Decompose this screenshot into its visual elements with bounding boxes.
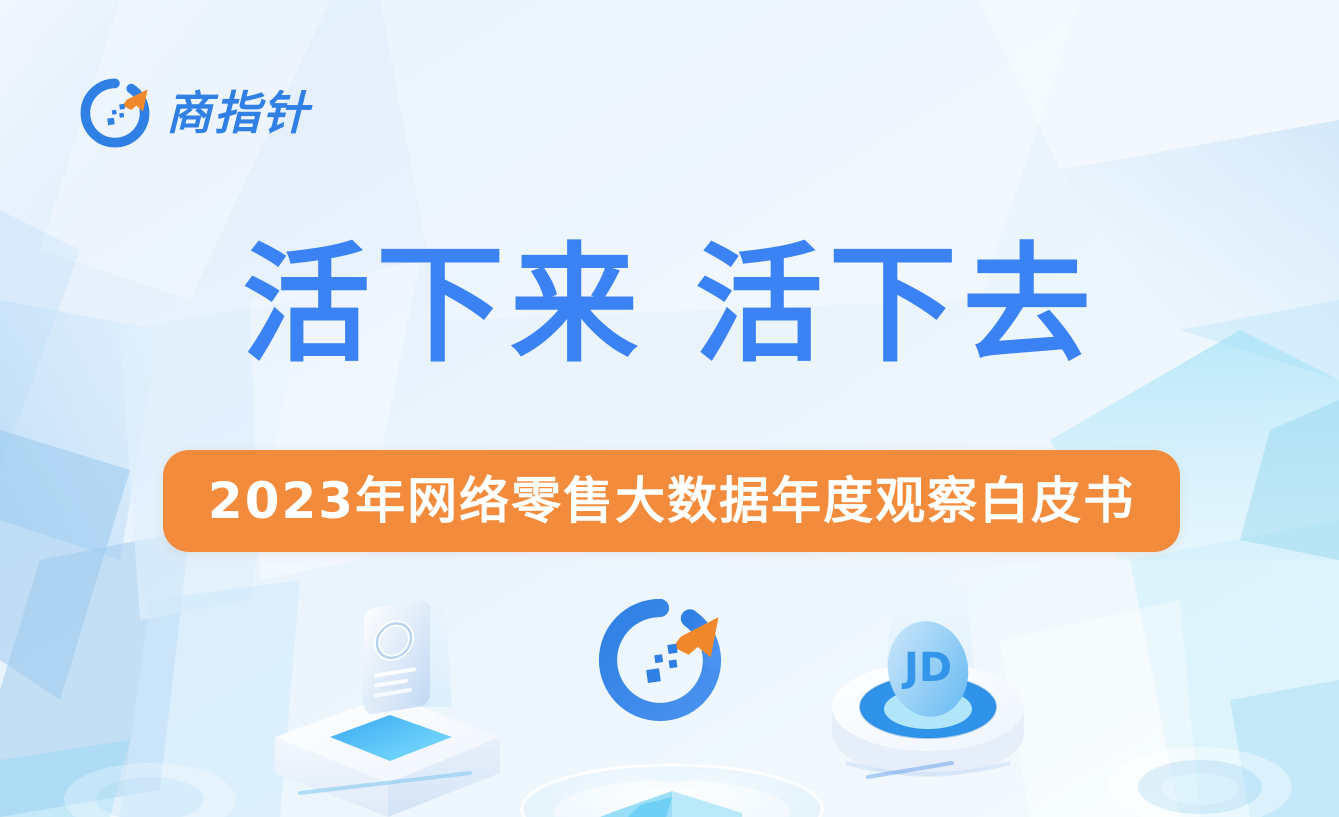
page-title-text: 活下来 活下去 [242,236,1097,374]
subtitle-text: 2023年网络零售大数据年度观察白皮书 [208,476,1135,526]
secondary-platform-icon [1108,747,1292,817]
svg-text:JD: JD [901,645,952,691]
shangzhizhen-ring-arrow-logo-icon [78,76,152,150]
brand-name: 商指针 [166,90,310,136]
brand-ring-logo-mark-icon [608,608,719,712]
tertiary-platform-icon [64,763,236,817]
dome-platform-icon [522,765,822,817]
brand-logo: 商指针 [78,76,310,150]
document-card-pedestal-icon [275,587,500,817]
report-cover-page: 商指针 活下来 活下去 2023年网络零售大数据年度观察白皮书 [0,0,1339,817]
jd-platform-badge-icon: JD [832,587,1024,777]
page-title: 活下来 活下去 [0,236,1339,374]
cover-illustration: JD [0,587,1339,817]
subtitle-banner: 2023年网络零售大数据年度观察白皮书 [163,450,1180,552]
